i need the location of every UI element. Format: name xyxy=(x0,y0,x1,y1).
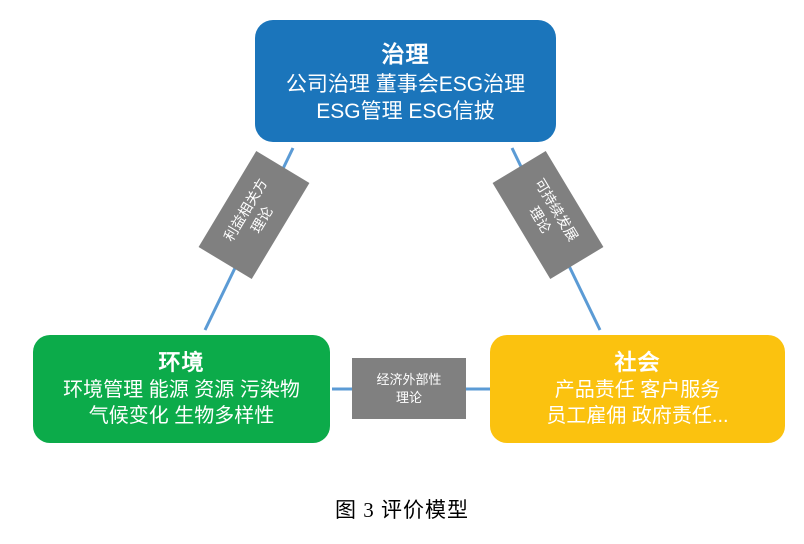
edge-label-bottom-line-1: 经济外部性 xyxy=(376,371,441,389)
node-environment-line-2: 气候变化 生物多样性 xyxy=(89,403,275,429)
figure-caption: 图 3 评价模型 xyxy=(0,494,804,524)
node-environment-title: 环境 xyxy=(158,349,204,378)
node-environment-line-1: 环境管理 能源 资源 污染物 xyxy=(63,377,300,403)
edge-label-economic-externality-theory[interactable]: 经济外部性 理论 xyxy=(352,358,466,419)
edge-label-sustainable-development-theory[interactable]: 可持续发展 理论 xyxy=(493,151,604,279)
node-environment[interactable]: 环境 环境管理 能源 资源 污染物 气候变化 生物多样性 xyxy=(33,335,330,443)
edge-label-stakeholder-theory[interactable]: 利益相关方 理论 xyxy=(199,151,310,279)
node-social-line-1: 产品责任 客户服务 xyxy=(555,377,721,403)
node-governance-line-2: ESG管理 ESG信披 xyxy=(316,98,495,125)
node-social[interactable]: 社会 产品责任 客户服务 员工雇佣 政府责任... xyxy=(490,335,785,443)
edge-label-bottom-line-2: 理论 xyxy=(396,389,422,407)
node-social-title: 社会 xyxy=(614,349,660,378)
node-social-line-2: 员工雇佣 政府责任... xyxy=(546,403,728,429)
node-governance-line-1: 公司治理 董事会ESG治理 xyxy=(286,71,525,98)
figure-canvas: 治理 公司治理 董事会ESG治理 ESG管理 ESG信披 环境 环境管理 能源 … xyxy=(0,0,804,544)
node-governance[interactable]: 治理 公司治理 董事会ESG治理 ESG管理 ESG信披 xyxy=(255,20,556,142)
node-governance-title: 治理 xyxy=(382,40,430,70)
